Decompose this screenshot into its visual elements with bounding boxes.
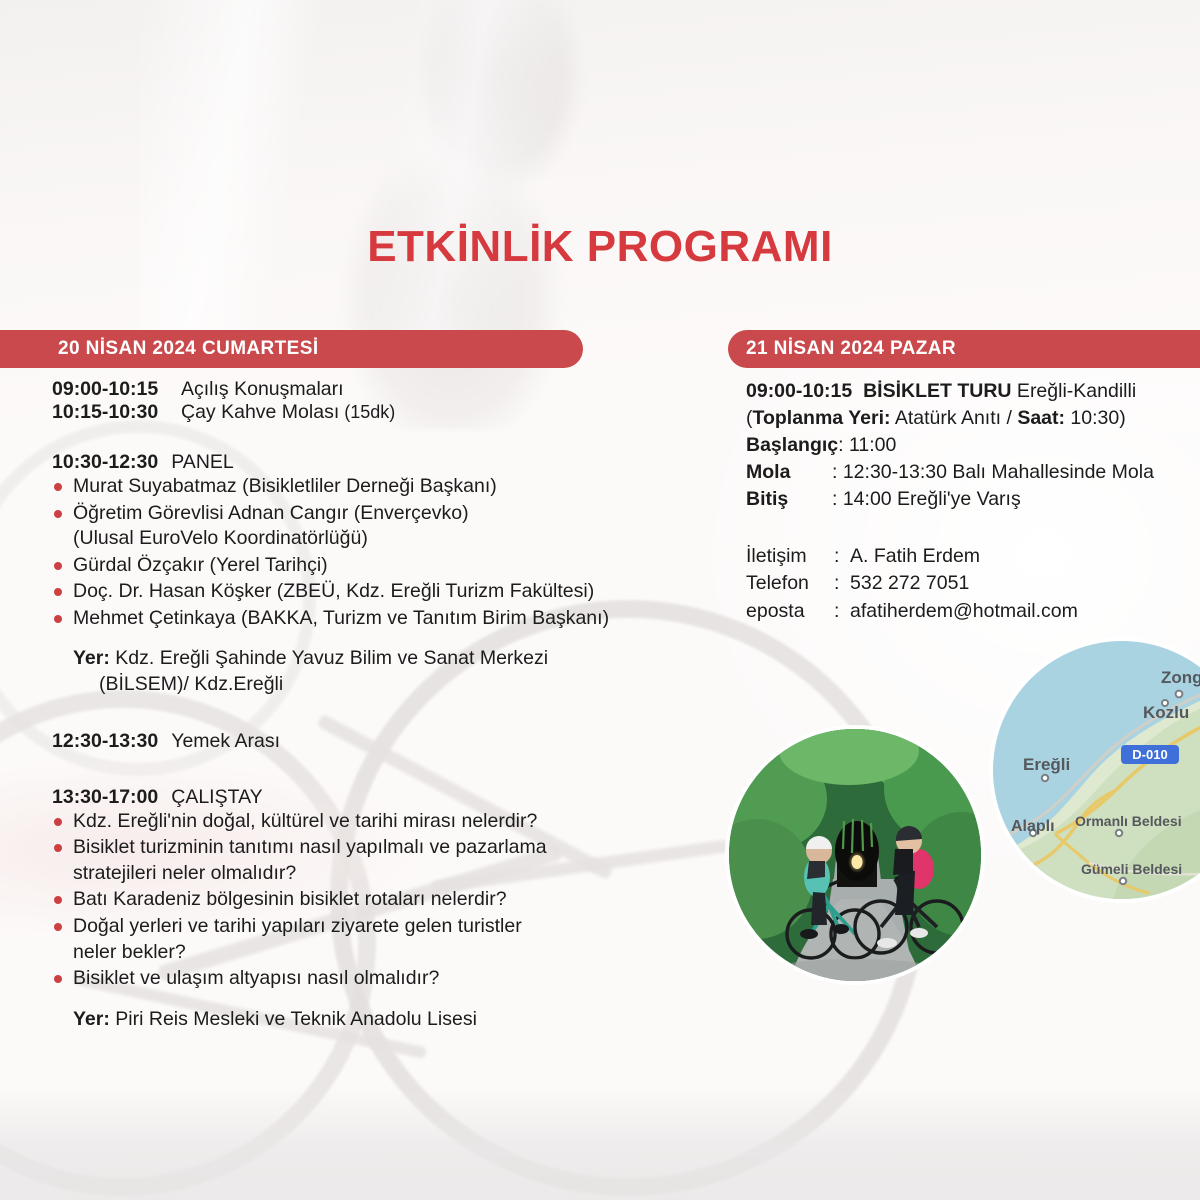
contact-separator: :	[834, 570, 850, 598]
cyclists-photo	[729, 729, 981, 981]
page-title: ETKİNLİK PROGRAMI	[0, 222, 1200, 272]
contact-separator: :	[834, 598, 850, 626]
detail-value: : 12:30-13:30 Balı Mahallesinde Mola	[832, 459, 1186, 486]
list-item-continuation: (Ulusal EuroVelo Koordinatörlüğü)	[73, 526, 692, 552]
light-rays	[140, 0, 700, 360]
list-item: Doğal yerleri ve tarihi yapıları ziyaret…	[52, 914, 692, 965]
workshop-venue: Yer: Piri Reis Mesleki ve Teknik Anadolu…	[52, 1007, 692, 1032]
session-note: (15dk)	[339, 402, 395, 422]
schedule-row: 12:30-13:30 Yemek Arası	[52, 730, 692, 753]
list-item: Bisiklet ve ulaşım altyapısı nasıl olmal…	[52, 966, 692, 992]
contact-separator: :	[834, 543, 850, 571]
contact-value: afatiherdem@hotmail.com	[850, 598, 1186, 626]
list-item: Mehmet Çetinkaya (BAKKA, Turizm ve Tanıt…	[52, 606, 692, 632]
venue-value: Piri Reis Mesleki ve Teknik Anadolu Lise…	[110, 1008, 477, 1030]
map-label-eregli: Ereğli	[1023, 755, 1070, 774]
detail-value: : 14:00 Ereğli'ye Varış	[832, 486, 1186, 513]
venue-value: Kdz. Ereğli Şahinde Yavuz Bilim ve Sanat…	[110, 647, 548, 669]
time-slot: 13:30-17:00	[52, 786, 158, 809]
venue-value-line2: (BİLSEM)/ Kdz.Ereğli	[73, 672, 692, 697]
time-slot: 12:30-13:30	[52, 730, 158, 753]
meeting-time-value: 10:30)	[1065, 407, 1126, 429]
detail-key: Bitiş	[746, 486, 832, 513]
detail-key: Mola	[746, 459, 832, 486]
contact-key: Telefon	[746, 570, 834, 598]
list-item-continuation: stratejileri neler olmalıdır?	[73, 861, 692, 887]
list-item: Öğretim Görevlisi Adnan Cangır (Enverçev…	[52, 501, 692, 552]
tour-detail-row: Bitiş : 14:00 Ereğli'ye Varış	[746, 486, 1186, 513]
day1-banner: 20 NİSAN 2024 CUMARTESİ	[0, 330, 583, 368]
panel-speaker-list: Murat Suyabatmaz (Bisikletliler Derneği …	[52, 474, 692, 631]
list-item: Batı Karadeniz bölgesinin bisiklet rotal…	[52, 887, 692, 913]
tour-detail-row: Başlangıç : 11:00	[746, 432, 1186, 459]
panel-title: PANEL	[171, 451, 234, 474]
bottom-band	[0, 1085, 1200, 1200]
contact-row: İletişim : A. Fatih Erdem	[746, 543, 1186, 571]
day2-banner: 21 NİSAN 2024 PAZAR	[728, 330, 1200, 368]
session-label: Çay Kahve Molası (15dk)	[181, 401, 395, 424]
tour-header: 09:00-10:15 BİSİKLET TURU Ereğli-Kandill…	[746, 378, 1186, 405]
tour-detail-row: Mola : 12:30-13:30 Balı Mahallesinde Mol…	[746, 459, 1186, 486]
session-label: Açılış Konuşmaları	[181, 378, 344, 401]
panel-header: 10:30-12:30 PANEL	[52, 451, 692, 474]
schedule-row: 10:15-10:30 Çay Kahve Molası (15dk)	[52, 401, 692, 424]
workshop-title: ÇALIŞTAY	[171, 786, 262, 809]
contact-value: A. Fatih Erdem	[850, 543, 1186, 571]
list-item: Bisiklet turizminin tanıtımı nasıl yapıl…	[52, 835, 692, 886]
venue-label: Yer:	[73, 1008, 110, 1030]
panel-venue: Yer: Kdz. Ereğli Şahinde Yavuz Bilim ve …	[52, 646, 692, 697]
contact-key: İletişim	[746, 543, 834, 571]
meeting-place-value: Atatürk Anıtı /	[891, 407, 1018, 429]
list-item: Doç. Dr. Hasan Köşker (ZBEÜ, Kdz. Ereğli…	[52, 579, 692, 605]
event-program-poster: ETKİNLİK PROGRAMI 20 NİSAN 2024 CUMARTES…	[0, 0, 1200, 1200]
day2-schedule: 09:00-10:15 BİSİKLET TURU Ereğli-Kandill…	[746, 378, 1186, 626]
time-slot: 09:00-10:15	[746, 380, 852, 402]
meeting-time-label: Saat:	[1017, 407, 1065, 429]
workshop-header: 13:30-17:00 ÇALIŞTAY	[52, 786, 692, 809]
tour-route: Ereğli-Kandilli	[1012, 380, 1137, 402]
tour-title: BİSİKLET TURU	[863, 380, 1011, 402]
time-slot: 10:30-12:30	[52, 451, 158, 474]
route-map: D-010 Zong Kozlu Ereğli Alaplı Ormanlı B…	[993, 641, 1200, 899]
detail-key: Başlangıç	[746, 432, 838, 459]
contact-value: 532 272 7051	[850, 570, 1186, 598]
contact-row: Telefon : 532 272 7051	[746, 570, 1186, 598]
road-shield-label: D-010	[1132, 747, 1167, 762]
list-item: Gürdal Özçakır (Yerel Tarihçi)	[52, 553, 692, 579]
day1-schedule: 09:00-10:15 Açılış Konuşmaları 10:15-10:…	[52, 378, 692, 1032]
list-item: Murat Suyabatmaz (Bisikletliler Derneği …	[52, 474, 692, 500]
map-label-gumeli: Gümeli Beldesi	[1081, 861, 1182, 877]
list-item: Kdz. Ereğli'nin doğal, kültürel ve tarih…	[52, 809, 692, 835]
map-label-kozlu: Kozlu	[1143, 703, 1189, 722]
contact-row: eposta : afatiherdem@hotmail.com	[746, 598, 1186, 626]
meeting-info: (Toplanma Yeri: Atatürk Anıtı / Saat: 10…	[746, 405, 1186, 432]
schedule-row: 09:00-10:15 Açılış Konuşmaları	[52, 378, 692, 401]
time-slot: 09:00-10:15	[52, 378, 181, 401]
map-label-alapli: Alaplı	[1011, 818, 1055, 835]
list-item-continuation: neler bekler?	[73, 940, 692, 966]
map-label-ormanli: Ormanlı Beldesi	[1075, 813, 1182, 829]
map-label-zonguldak: Zong	[1161, 668, 1200, 687]
venue-label: Yer:	[73, 647, 110, 669]
contact-key: eposta	[746, 598, 834, 626]
session-label: Yemek Arası	[171, 730, 280, 753]
time-slot: 10:15-10:30	[52, 401, 181, 424]
detail-value: : 11:00	[838, 432, 1186, 459]
workshop-question-list: Kdz. Ereğli'nin doğal, kültürel ve tarih…	[52, 809, 692, 992]
meeting-place-label: Toplanma Yeri:	[753, 407, 891, 429]
